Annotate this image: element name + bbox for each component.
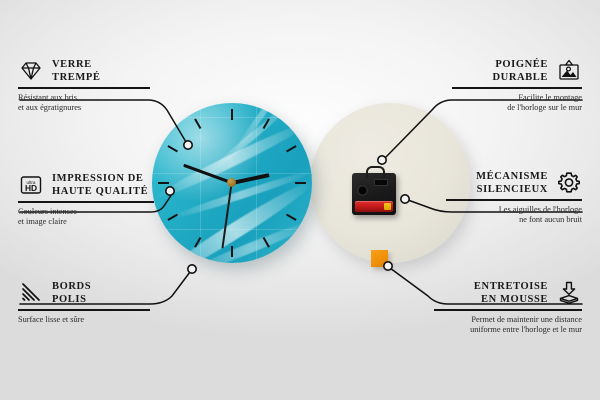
foam-spacer-icon xyxy=(556,280,582,306)
feature-desc-line2: uniforme entre l'horloge et le mur xyxy=(434,325,582,335)
feature-desc-line2: et aux égratignures xyxy=(18,103,150,113)
clock-hub xyxy=(227,178,236,187)
hanging-frame-icon xyxy=(556,58,582,84)
feature-divider xyxy=(434,309,582,311)
hour-marker xyxy=(158,182,169,184)
feature-title-line1: VERRE xyxy=(52,58,101,71)
feature-divider xyxy=(18,309,150,311)
feature-mecanisme: MÉCANISME SILENCIEUX Les aiguilles de l'… xyxy=(446,170,582,225)
svg-text:HD: HD xyxy=(25,183,37,193)
feature-divider xyxy=(18,87,150,89)
mechanism-slot xyxy=(374,179,388,186)
feature-desc-line1: Permet de maintenir une distance xyxy=(434,315,582,325)
hour-marker xyxy=(295,182,306,184)
hour-marker xyxy=(231,109,233,120)
feature-title-line2: HAUTE QUALITÉ xyxy=(52,185,148,198)
clock-front-view xyxy=(152,103,312,263)
feature-entretoise: ENTRETOISE EN MOUSSE Permet de maintenir… xyxy=(434,280,582,335)
product-infographic: VERRE TREMPÉ Résistant aux bris et aux é… xyxy=(0,0,600,400)
feature-title-line1: POIGNÉE xyxy=(492,58,548,71)
feature-title-line2: TREMPÉ xyxy=(52,71,101,84)
feature-desc-line2: ne font aucun bruit xyxy=(446,215,582,225)
feature-title-line2: SILENCIEUX xyxy=(476,183,548,196)
feature-desc-line1: Les aiguilles de l'horloge xyxy=(446,205,582,215)
feature-title-line2: POLIS xyxy=(52,293,91,306)
feature-title-line1: MÉCANISME xyxy=(476,170,548,183)
feature-desc-line1: Résistant aux bris xyxy=(18,93,150,103)
feature-poignee: POIGNÉE DURABLE Facilite le montage de l… xyxy=(452,58,582,113)
feature-verre-trempe: VERRE TREMPÉ Résistant aux bris et aux é… xyxy=(18,58,150,113)
feature-divider xyxy=(18,201,154,203)
feature-desc-line2: et image claire xyxy=(18,217,154,227)
clock-mechanism xyxy=(352,173,396,215)
feature-title-line2: DURABLE xyxy=(492,71,548,84)
feature-desc-line1: Facilite le montage xyxy=(452,93,582,103)
polished-edge-icon xyxy=(18,280,44,306)
connector-dot-bords-polis xyxy=(188,265,196,273)
feature-title-line2: EN MOUSSE xyxy=(474,293,548,306)
feature-bords-polis: BORDS POLIS Surface lisse et sûre xyxy=(18,280,150,325)
feature-divider xyxy=(452,87,582,89)
feature-desc-line1: Couleurs intenses xyxy=(18,207,154,217)
mechanism-dial xyxy=(357,185,368,196)
feature-divider xyxy=(446,199,582,201)
feature-title-line1: ENTRETOISE xyxy=(474,280,548,293)
feature-desc-line1: Surface lisse et sûre xyxy=(18,315,150,325)
feature-title-line1: IMPRESSION DE xyxy=(52,172,148,185)
foam-spacer xyxy=(371,250,388,267)
feature-title-line1: BORDS xyxy=(52,280,91,293)
hanging-loop xyxy=(366,166,385,178)
diamond-icon xyxy=(18,58,44,84)
ultra-hd-icon: ultra HD xyxy=(18,172,44,198)
feature-impression: ultra HD IMPRESSION DE HAUTE QUALITÉ Cou… xyxy=(18,172,154,227)
feature-desc-line2: de l'horloge sur le mur xyxy=(452,103,582,113)
gear-icon xyxy=(556,170,582,196)
battery xyxy=(355,201,393,212)
hour-marker xyxy=(231,246,233,257)
